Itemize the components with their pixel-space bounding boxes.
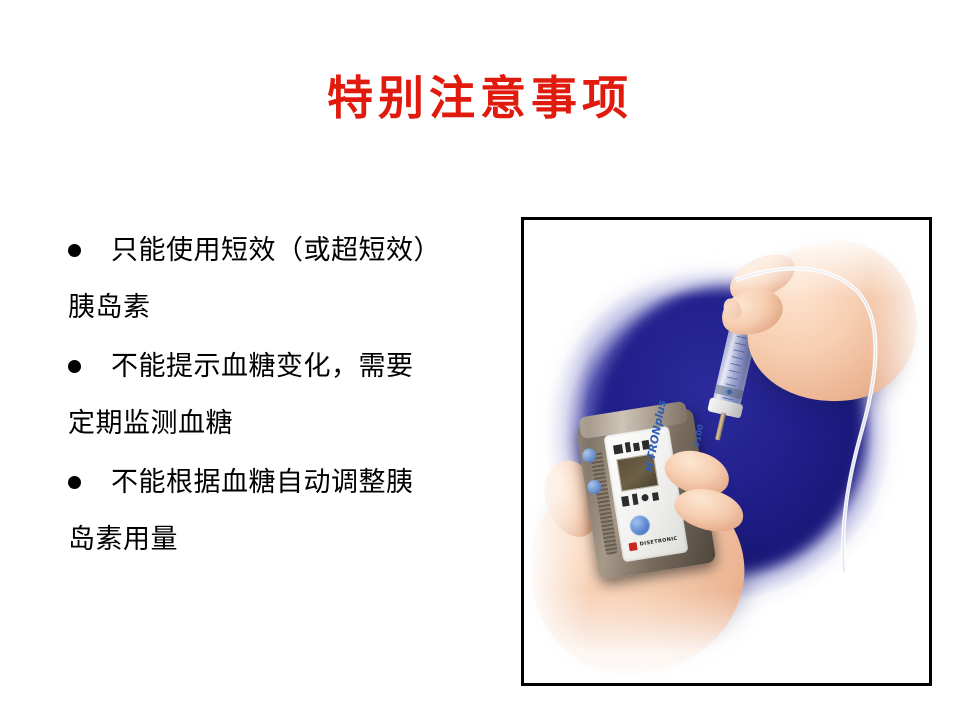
bullet-dot-icon: [68, 360, 81, 373]
pump-brand-label: DISETRONIC: [639, 536, 678, 548]
photo-frame: DISETRONIC H-TRONplus V100: [521, 217, 932, 686]
bullet-line: 只能使用短效（或超短效）: [68, 222, 520, 279]
pump-action-button[interactable]: [628, 514, 651, 537]
reservoir-icon: [625, 442, 632, 453]
bullet-text-line-2: 岛素用量: [68, 511, 520, 568]
clock-icon: [641, 494, 649, 502]
list-item: 只能使用短效（或超短效） 胰岛素: [68, 222, 520, 336]
bullet-text-line-1: 不能提示血糖变化，需要: [111, 338, 520, 395]
bullet-dot-icon: [68, 244, 81, 257]
alarm-icon: [633, 442, 640, 451]
list-item: 不能根据血糖自动调整胰 岛素用量: [68, 454, 520, 568]
bullet-line: 不能提示血糖变化，需要: [68, 338, 520, 395]
bullet-text-line-1: 不能根据血糖自动调整胰: [111, 454, 520, 511]
bullet-list: 只能使用短效（或超短效） 胰岛素 不能提示血糖变化，需要 定期监测血糖 不能根据…: [68, 222, 520, 570]
insulin-pump-photo: DISETRONIC H-TRONplus V100: [524, 220, 929, 683]
lock-icon: [652, 492, 659, 501]
bullet-text-line-2: 胰岛素: [68, 279, 520, 336]
bullet-text-line-2: 定期监测血糖: [68, 395, 520, 452]
syringe-icon: [621, 495, 629, 506]
cartridge-icon: [632, 493, 639, 505]
bullet-dot-icon: [68, 476, 81, 489]
disetronic-logo-icon: [629, 542, 638, 551]
battery-icon: [613, 444, 623, 454]
page-title: 特别注意事项: [0, 70, 960, 126]
list-item: 不能提示血糖变化，需要 定期监测血糖: [68, 338, 520, 452]
bullet-line: 不能根据血糖自动调整胰: [68, 454, 520, 511]
slide: 特别注意事项 只能使用短效（或超短效） 胰岛素 不能提示血糖变化，需要 定期监测…: [0, 0, 960, 720]
pump-mode-icons: [621, 488, 674, 507]
bullet-text-line-1: 只能使用短效（或超短效）: [111, 222, 520, 279]
